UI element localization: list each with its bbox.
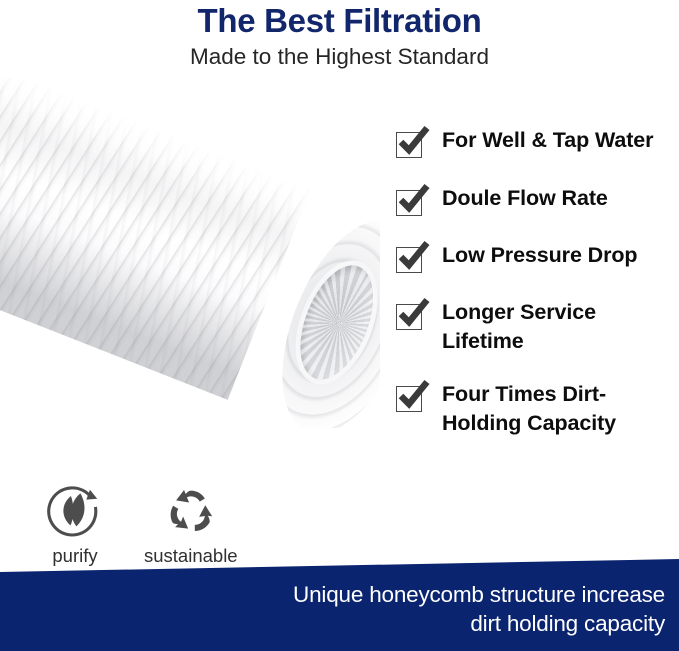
check-mark-glyph <box>397 298 430 331</box>
badge-label: sustainable <box>144 545 238 567</box>
checkbox-checked-icon <box>396 190 424 218</box>
checkbox-checked-icon <box>396 247 424 275</box>
feature-item: Longer Service Lifetime <box>396 298 668 356</box>
checkbox-checked-icon <box>396 386 424 414</box>
header: The Best Filtration Made to the Highest … <box>0 0 679 71</box>
feature-item: For Well & Tap Water <box>396 126 668 160</box>
check-mark-glyph <box>397 126 430 159</box>
checkbox-checked-icon <box>396 304 424 332</box>
bottom-banner: Unique honeycomb structure increase dirt… <box>0 559 679 651</box>
cartridge-shading <box>0 78 310 400</box>
check-mark-glyph <box>397 184 430 217</box>
badge-purify: purify <box>46 482 104 567</box>
check-mark-glyph <box>397 241 430 274</box>
badge-label: purify <box>52 545 97 567</box>
feature-label: For Well & Tap Water <box>442 126 653 155</box>
feature-label: Longer Service Lifetime <box>442 298 668 356</box>
product-image <box>0 78 380 428</box>
feature-item: Doule Flow Rate <box>396 184 668 218</box>
badge-sustainable: sustainable <box>144 482 238 567</box>
checkbox-checked-icon <box>396 132 424 160</box>
banner-text: Unique honeycomb structure increase dirt… <box>293 580 665 638</box>
recycle-icon <box>162 482 220 540</box>
leaf-cycle-icon <box>46 482 104 540</box>
feature-item: Low Pressure Drop <box>396 241 668 275</box>
badge-group: purify sustainable <box>46 482 238 567</box>
banner-line-1: Unique honeycomb structure increase <box>293 580 665 609</box>
feature-item: Four Times Dirt-Holding Capacity <box>396 380 668 438</box>
feature-label: Doule Flow Rate <box>442 184 608 213</box>
banner-line-2: dirt holding capacity <box>293 609 665 638</box>
feature-label: Four Times Dirt-Holding Capacity <box>442 380 668 438</box>
feature-list: For Well & Tap Water Doule Flow Rate Low… <box>396 126 668 462</box>
page-subtitle: Made to the Highest Standard <box>0 43 679 71</box>
page-title: The Best Filtration <box>0 2 679 40</box>
check-mark-glyph <box>397 380 430 413</box>
filter-cartridge-illustration <box>0 78 380 428</box>
feature-label: Low Pressure Drop <box>442 241 637 270</box>
